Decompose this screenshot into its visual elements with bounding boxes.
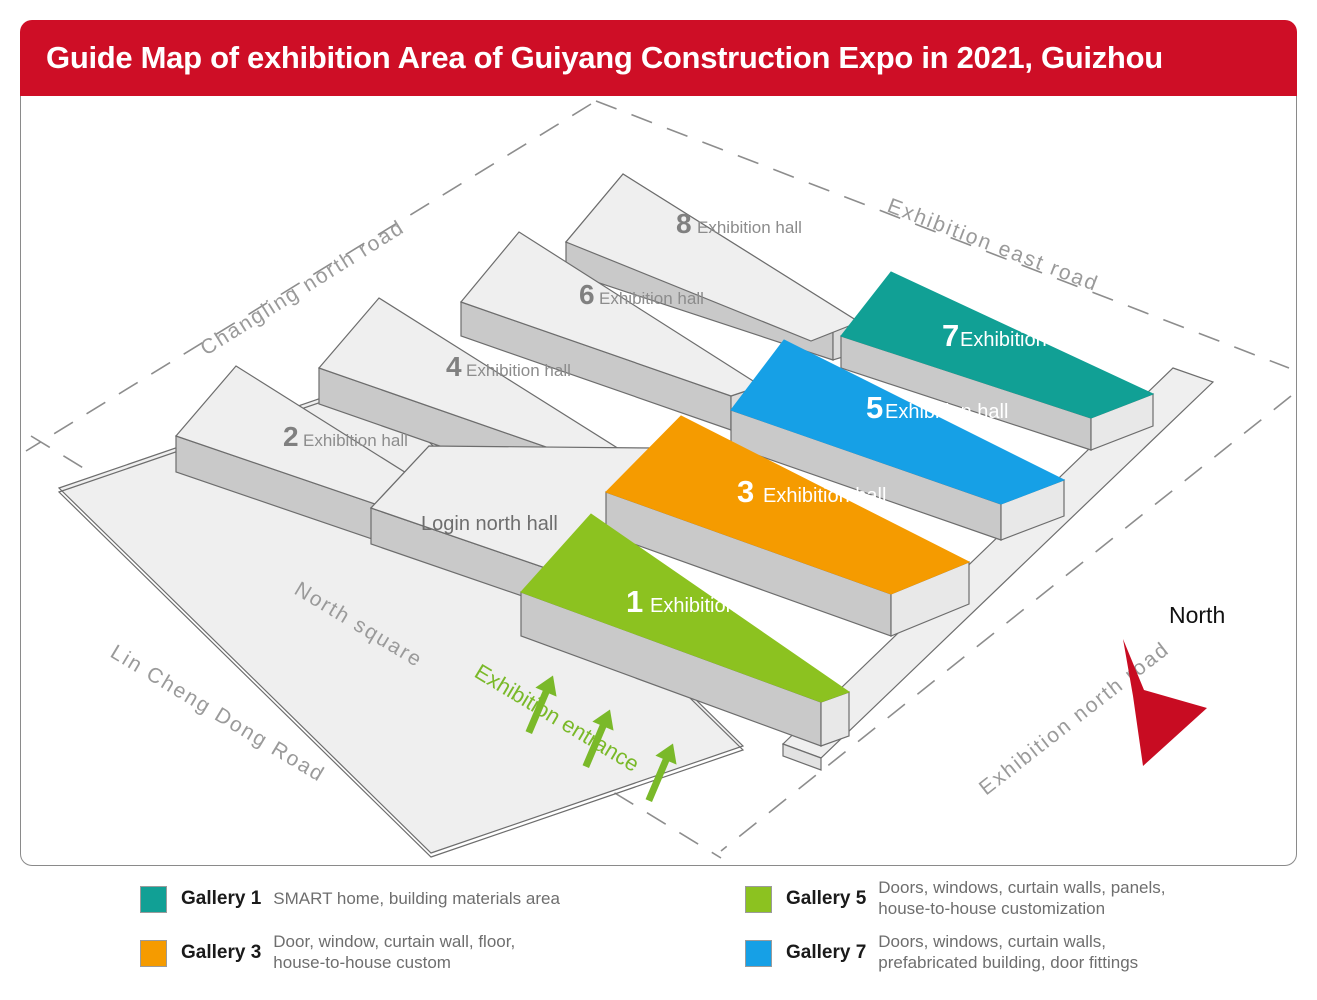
legend-swatch-gallery-1 xyxy=(140,886,167,913)
guide-map-page: Guide Map of exhibition Area of Guiyang … xyxy=(0,0,1317,1000)
legend-desc-gallery-1: SMART home, building materials area xyxy=(273,889,560,910)
hall-6-label: Exhibition hall xyxy=(599,289,704,308)
compass: North xyxy=(1123,602,1225,766)
hall-4-label: Exhibition hall xyxy=(466,361,571,380)
hall-1-number: 1 xyxy=(626,584,643,619)
compass-label: North xyxy=(1169,602,1225,628)
hall-2-label: Exhibition hall xyxy=(303,431,408,450)
title-banner: Guide Map of exhibition Area of Guiyang … xyxy=(20,20,1297,96)
hall-5-number: 5 xyxy=(866,390,883,425)
legend-column-right: Gallery 5 Doors, windows, curtain walls,… xyxy=(745,872,1166,980)
legend-item-gallery-1[interactable]: Gallery 1 SMART home, building materials… xyxy=(140,872,560,926)
legend-column-left: Gallery 1 SMART home, building materials… xyxy=(140,872,560,980)
legend-desc-gallery-5: Doors, windows, curtain walls, panels, h… xyxy=(878,878,1165,919)
hall-8-number: 8 xyxy=(676,208,692,239)
legend-name-gallery-5: Gallery 5 xyxy=(786,888,866,910)
login-hall-label: Login north hall xyxy=(421,513,558,535)
legend-desc-gallery-3: Door, window, curtain wall, floor, house… xyxy=(273,932,515,973)
hall-8-label: Exhibition hall xyxy=(697,218,802,237)
hall-3-label: Exhibition hall xyxy=(763,485,886,507)
map-panel: 8 Exhibition hall 6 Exhibition hall 4 Ex… xyxy=(20,96,1297,866)
isometric-map: 8 Exhibition hall 6 Exhibition hall 4 Ex… xyxy=(21,96,1296,864)
hall-4-number: 4 xyxy=(446,351,462,382)
hall-6-number: 6 xyxy=(579,279,595,310)
legend: Gallery 1 SMART home, building materials… xyxy=(20,872,1297,992)
hall-3-number: 3 xyxy=(737,474,754,509)
page-title: Guide Map of exhibition Area of Guiyang … xyxy=(46,40,1163,76)
hall-1-label: Exhibition hall xyxy=(650,595,773,617)
legend-swatch-gallery-3 xyxy=(140,940,167,967)
legend-swatch-gallery-7 xyxy=(745,940,772,967)
legend-desc-gallery-7: Doors, windows, curtain walls, prefabric… xyxy=(878,932,1138,973)
legend-item-gallery-7[interactable]: Gallery 7 Doors, windows, curtain walls,… xyxy=(745,926,1166,980)
hall-5-label: Exhibition hall xyxy=(885,401,1008,423)
legend-item-gallery-3[interactable]: Gallery 3 Door, window, curtain wall, fl… xyxy=(140,926,560,980)
hall-7-label: Exhibition hall xyxy=(960,329,1083,351)
hall-7-number: 7 xyxy=(942,318,959,353)
hall-2-number: 2 xyxy=(283,421,299,452)
road-label-exhibition-east: Exhibition east road xyxy=(884,194,1102,296)
legend-name-gallery-1: Gallery 1 xyxy=(181,888,261,910)
legend-name-gallery-3: Gallery 3 xyxy=(181,942,261,964)
legend-item-gallery-5[interactable]: Gallery 5 Doors, windows, curtain walls,… xyxy=(745,872,1166,926)
legend-name-gallery-7: Gallery 7 xyxy=(786,942,866,964)
legend-swatch-gallery-5 xyxy=(745,886,772,913)
